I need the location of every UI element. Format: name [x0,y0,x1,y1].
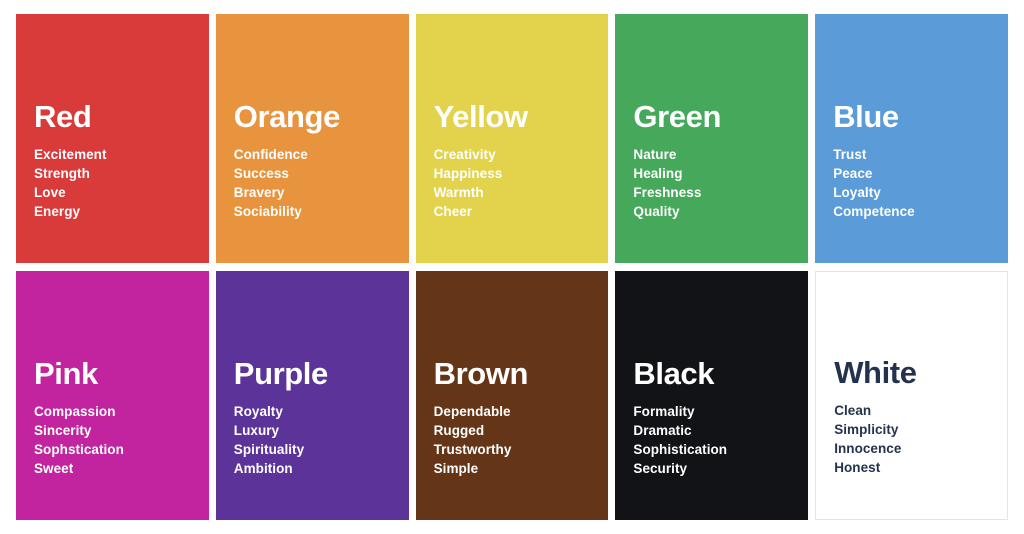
color-card-title-black: Black [633,358,808,389]
color-card-orange: OrangeConfidenceSuccessBraverySociabilit… [216,14,409,263]
trait-list-pink: CompassionSinceritySophsticationSweet [34,402,209,478]
trait-item: Sweet [34,459,209,478]
trait-item: Competence [833,202,1008,221]
trait-list-green: NatureHealingFreshnessQuality [633,145,808,221]
trait-item: Dependable [434,402,609,421]
color-card-blue: BlueTrustPeaceLoyaltyCompetence [815,14,1008,263]
trait-item: Simple [434,459,609,478]
trait-item: Creativity [434,145,609,164]
trait-item: Peace [833,164,1008,183]
color-card-title-purple: Purple [234,358,409,389]
trait-item: Confidence [234,145,409,164]
trait-item: Clean [834,401,1007,420]
trait-item: Happiness [434,164,609,183]
color-psychology-board: RedExcitementStrengthLoveEnergyOrangeCon… [0,0,1024,534]
trait-item: Innocence [834,439,1007,458]
trait-item: Trustworthy [434,440,609,459]
trait-item: Strength [34,164,209,183]
trait-item: Royalty [234,402,409,421]
color-card-title-blue: Blue [833,101,1008,132]
trait-item: Sophistication [633,440,808,459]
trait-item: Healing [633,164,808,183]
color-card-title-brown: Brown [434,358,609,389]
color-card-title-green: Green [633,101,808,132]
color-card-green: GreenNatureHealingFreshnessQuality [615,14,808,263]
trait-item: Rugged [434,421,609,440]
trait-item: Ambition [234,459,409,478]
color-card-white: WhiteCleanSimplicityInnocenceHonest [815,271,1008,520]
trait-item: Cheer [434,202,609,221]
trait-item: Sophstication [34,440,209,459]
color-card-brown: BrownDependableRuggedTrustworthySimple [416,271,609,520]
trait-item: Dramatic [633,421,808,440]
color-card-yellow: YellowCreativityHappinessWarmthCheer [416,14,609,263]
color-card-title-white: White [834,357,1007,388]
color-card-title-pink: Pink [34,358,209,389]
color-card-title-yellow: Yellow [434,101,609,132]
trait-item: Sociability [234,202,409,221]
trait-list-white: CleanSimplicityInnocenceHonest [834,401,1007,477]
trait-list-orange: ConfidenceSuccessBraverySociability [234,145,409,221]
trait-item: Success [234,164,409,183]
trait-item: Luxury [234,421,409,440]
trait-item: Energy [34,202,209,221]
trait-item: Quality [633,202,808,221]
trait-list-brown: DependableRuggedTrustworthySimple [434,402,609,478]
trait-item: Security [633,459,808,478]
trait-item: Spirituality [234,440,409,459]
color-card-red: RedExcitementStrengthLoveEnergy [16,14,209,263]
trait-item: Simplicity [834,420,1007,439]
trait-item: Excitement [34,145,209,164]
color-card-black: BlackFormalityDramaticSophisticationSecu… [615,271,808,520]
trait-list-red: ExcitementStrengthLoveEnergy [34,145,209,221]
trait-list-purple: RoyaltyLuxurySpiritualityAmbition [234,402,409,478]
trait-list-black: FormalityDramaticSophisticationSecurity [633,402,808,478]
trait-item: Love [34,183,209,202]
trait-item: Bravery [234,183,409,202]
trait-list-yellow: CreativityHappinessWarmthCheer [434,145,609,221]
color-card-title-orange: Orange [234,101,409,132]
trait-item: Warmth [434,183,609,202]
trait-item: Loyalty [833,183,1008,202]
trait-item: Freshness [633,183,808,202]
color-card-purple: PurpleRoyaltyLuxurySpiritualityAmbition [216,271,409,520]
color-card-pink: PinkCompassionSinceritySophsticationSwee… [16,271,209,520]
trait-item: Nature [633,145,808,164]
trait-item: Formality [633,402,808,421]
color-card-title-red: Red [34,101,209,132]
trait-item: Honest [834,458,1007,477]
trait-item: Sincerity [34,421,209,440]
trait-item: Trust [833,145,1008,164]
trait-item: Compassion [34,402,209,421]
trait-list-blue: TrustPeaceLoyaltyCompetence [833,145,1008,221]
